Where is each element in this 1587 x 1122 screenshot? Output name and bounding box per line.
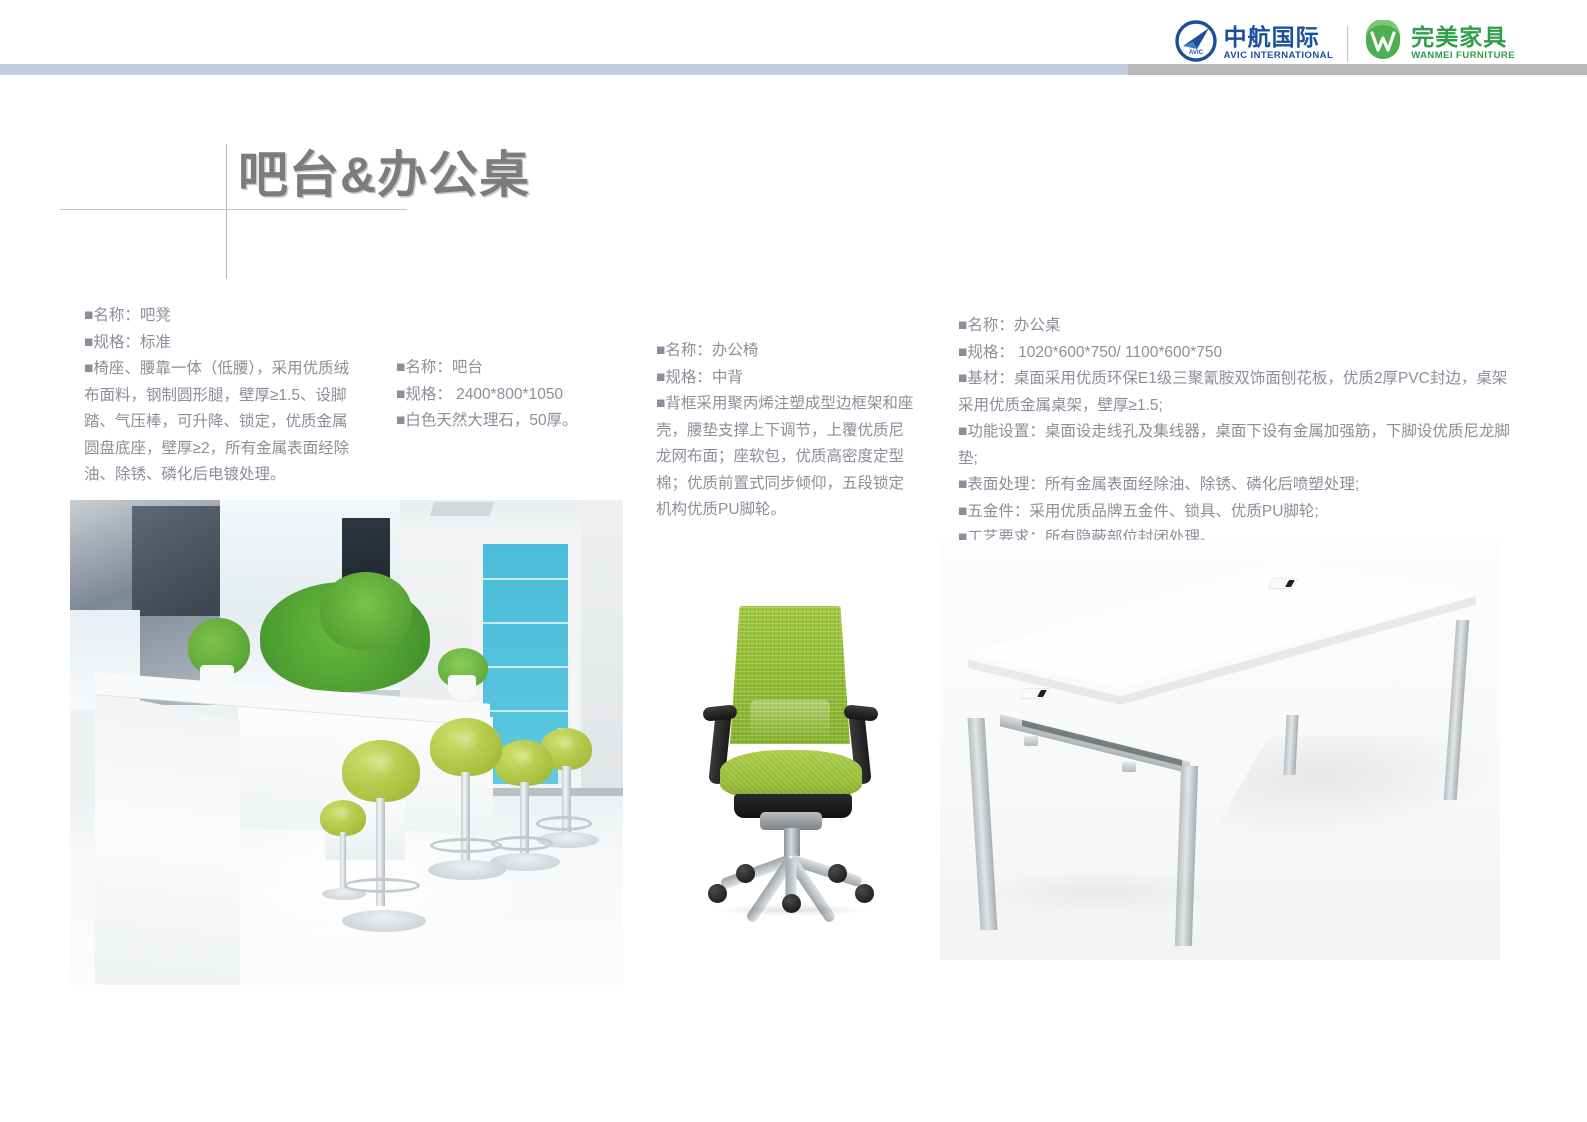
desk-hardware: ■五金件：采用优质品牌五金件、锁具、优质PU脚轮; [958, 499, 1518, 526]
avic-logo-en: AVIC INTERNATIONAL [1224, 51, 1334, 61]
stool-seat [430, 718, 502, 776]
desk-function: ■功能设置：桌面设走线孔及集线器，桌面下设有金属加强筋，下脚设优质尼龙脚垫; [958, 419, 1518, 472]
header-bar-right-segment [1128, 64, 1587, 75]
desk-floor-reflection [980, 870, 1220, 915]
chair-spec: ■规格：中背 [656, 365, 918, 392]
svg-text:AVIC: AVIC [1189, 50, 1204, 56]
logo-divider [1347, 26, 1348, 62]
desk-surface: ■表面处理：所有金属表面经除油、除锈、磷化后喷塑处理; [958, 472, 1518, 499]
chair-lumbar-support [750, 700, 830, 740]
wanmei-logo-en: WANMEI FURNITURE [1411, 51, 1515, 61]
title-horizontal-rule [60, 209, 407, 210]
logo-row: AVIC 中航国际 AVIC INTERNATIONAL [1175, 20, 1515, 67]
stool-base [342, 910, 426, 932]
logo-wanmei-furniture: 完美家具 WANMEI FURNITURE [1362, 20, 1515, 67]
chair-caster [828, 864, 847, 883]
avic-logo-text: 中航国际 AVIC INTERNATIONAL [1224, 26, 1334, 61]
logo-avic-international: AVIC 中航国际 AVIC INTERNATIONAL [1175, 20, 1334, 67]
barstool-name: ■名称：吧凳 [84, 303, 356, 330]
office-desk-photo [940, 540, 1500, 960]
desk-spec: ■规格： 1020*600*750/ 1100*600*750 [958, 340, 1518, 367]
barstool-description: ■椅座、腰靠一体（低腰），采用优质绒布面料，钢制圆形腿，壁厚≥1.5、设脚踏、气… [84, 356, 356, 489]
ceiling-vent [430, 502, 495, 516]
palm-plant-center-top [320, 572, 412, 650]
window-dark-pane [132, 506, 230, 616]
wanmei-w-icon [1362, 20, 1404, 67]
chair-description: ■背框采用聚丙烯注塑成型边框架和座壳，腰垫支撑上下调节，上覆优质尼龙网布面；座软… [656, 391, 918, 524]
chair-floor-shadow [712, 904, 872, 916]
stool-footring [344, 878, 420, 893]
chair-caster [736, 864, 755, 883]
stool-seat [342, 740, 420, 802]
title-vertical-rule [226, 144, 227, 279]
spec-block-barstool: ■名称：吧凳 ■规格：标准 ■椅座、腰靠一体（低腰），采用优质绒布面料，钢制圆形… [84, 303, 356, 489]
desk-name: ■名称：办公桌 [958, 313, 1518, 340]
wanmei-logo-text: 完美家具 WANMEI FURNITURE [1411, 26, 1515, 61]
desk-bracket-right [1122, 762, 1136, 772]
bartop-spec: ■规格： 2400*800*1050 [396, 382, 611, 409]
spec-block-bartop: ■名称：吧台 ■规格： 2400*800*1050 ■白色天然大理石，50厚。 [396, 355, 611, 435]
slide-root: AVIC 中航国际 AVIC INTERNATIONAL [0, 0, 1587, 1122]
desk-material: ■基材：桌面采用优质环保E1级三聚氰胺双饰面刨花板，优质2厚PVC封边，桌架采用… [958, 366, 1518, 419]
wanmei-logo-cn: 完美家具 [1411, 26, 1515, 49]
chair-name: ■名称：办公椅 [656, 338, 918, 365]
office-chair-photo [672, 592, 907, 929]
counter-front-panel [95, 691, 240, 985]
avic-logo-cn: 中航国际 [1224, 26, 1334, 49]
chair-caster [708, 884, 727, 903]
stool-seat [495, 740, 553, 786]
chair-caster [855, 884, 874, 903]
bar-counter-photo [70, 500, 623, 985]
avic-swallow-icon: AVIC [1175, 20, 1217, 67]
spec-block-office-desk: ■名称：办公桌 ■规格： 1020*600*750/ 1100*600*750 … [958, 313, 1518, 552]
stool-base [428, 860, 506, 880]
spec-block-office-chair: ■名称：办公椅 ■规格：中背 ■背框采用聚丙烯注塑成型边框架和座壳，腰垫支撑上下… [656, 338, 918, 524]
bartop-name: ■名称：吧台 [396, 355, 611, 382]
office-desk-illustration [940, 540, 1500, 960]
chair-five-star-base [708, 850, 874, 900]
desk-bracket-left [1024, 736, 1038, 746]
chair-seat-texture [720, 750, 862, 798]
title-block: 吧台&办公桌 [0, 0, 600, 300]
bartop-description: ■白色天然大理石，50厚。 [396, 408, 611, 435]
stool-footring [430, 838, 502, 853]
stool-seat [320, 800, 366, 836]
barstool-spec: ■规格：标准 [84, 330, 356, 357]
office-chair-illustration [672, 592, 907, 929]
page-title: 吧台&办公桌 [238, 135, 530, 207]
stool-footring [536, 816, 592, 831]
bar-scene-illustration [70, 500, 623, 985]
